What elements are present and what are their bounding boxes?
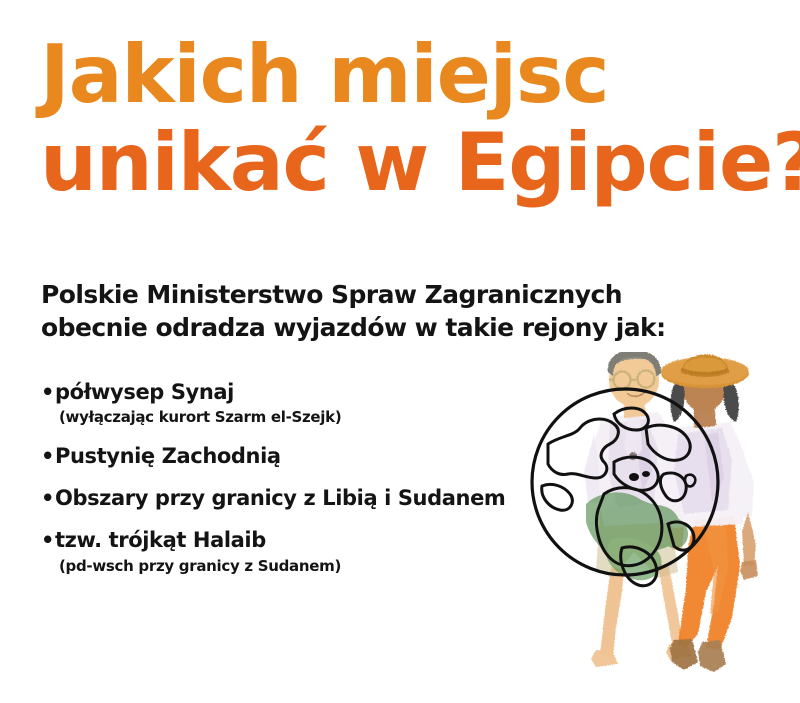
two-travelers-with-globe-illustration bbox=[518, 352, 800, 686]
subheading-line-1: Polskie Ministerstwo Spraw Zagranicznych bbox=[41, 278, 681, 311]
list-item: • Pustynię Zachodnią bbox=[41, 444, 521, 469]
bullet-dot-icon: • bbox=[41, 488, 55, 509]
headline-line-2: unikać w Egipcie? bbox=[40, 122, 760, 204]
poster-canvas: Jakich miejsc unikać w Egipcie? Polskie … bbox=[0, 0, 800, 703]
list-item-note: (pd-wsch przy granicy z Sudanem) bbox=[59, 557, 521, 576]
subheading-line-2: obecnie odradza wyjazdów w takie rejony … bbox=[41, 311, 681, 344]
bullet-dot-icon: • bbox=[41, 382, 55, 403]
list-item-main: • Obszary przy granicy z Libią i Sudanem bbox=[41, 486, 521, 511]
headline-line-1: Jakich miejsc bbox=[40, 34, 760, 116]
list-item-label: Obszary przy granicy z Libią i Sudanem bbox=[55, 486, 505, 511]
list-item-note: (wyłączając kurort Szarm el-Szejk) bbox=[59, 408, 521, 427]
bullet-dot-icon: • bbox=[41, 530, 55, 551]
bullet-dot-icon: • bbox=[41, 446, 55, 467]
list-item-main: • Pustynię Zachodnią bbox=[41, 444, 521, 469]
list-item-label: Pustynię Zachodnią bbox=[55, 444, 281, 469]
list-item: • półwysep Synaj (wyłączając kurort Szar… bbox=[41, 380, 521, 427]
list-item: • Obszary przy granicy z Libią i Sudanem bbox=[41, 486, 521, 511]
subheading: Polskie Ministerstwo Spraw Zagranicznych… bbox=[41, 278, 681, 344]
list-item: • tzw. trójkąt Halaib (pd-wsch przy gran… bbox=[41, 528, 521, 575]
list-item-main: • półwysep Synaj bbox=[41, 380, 521, 405]
list-item-label: tzw. trójkąt Halaib bbox=[55, 528, 266, 553]
advisory-region-list: • półwysep Synaj (wyłączając kurort Szar… bbox=[41, 380, 521, 575]
page-title: Jakich miejsc unikać w Egipcie? bbox=[40, 34, 760, 203]
list-item-main: • tzw. trójkąt Halaib bbox=[41, 528, 521, 553]
list-item-label: półwysep Synaj bbox=[55, 380, 234, 405]
